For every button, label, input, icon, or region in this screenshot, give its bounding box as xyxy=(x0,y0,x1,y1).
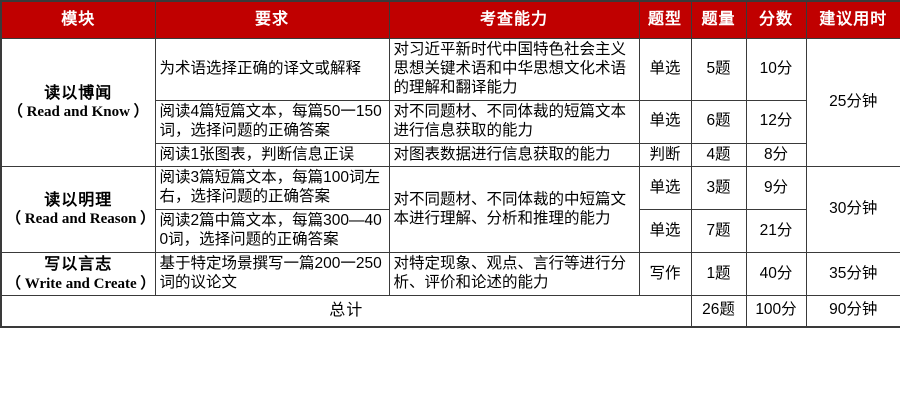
column-header-requirement: 要求 xyxy=(155,1,389,39)
suggested-time-cell-3: 35分钟 xyxy=(806,253,900,296)
ability-cell: 对习近平新时代中国特色社会主义思想关键术语和中华思想文化术语的理解和翻译能力 xyxy=(389,39,639,101)
question-count-cell: 6题 xyxy=(691,100,746,143)
total-row: 总计 26题 100分 90分钟 xyxy=(1,295,900,327)
question-type-cell: 单选 xyxy=(639,167,691,210)
question-type-cell: 单选 xyxy=(639,210,691,253)
ability-cell: 对图表数据进行信息获取的能力 xyxy=(389,143,639,167)
score-cell: 8分 xyxy=(746,143,806,167)
score-cell: 9分 xyxy=(746,167,806,210)
question-type-cell: 判断 xyxy=(639,143,691,167)
module-name-en: （ Read and Reason ） xyxy=(6,210,151,228)
total-question-count: 26题 xyxy=(691,295,746,327)
ability-cell: 对不同题材、不同体裁的短篇文本进行信息获取的能力 xyxy=(389,100,639,143)
question-count-cell: 5题 xyxy=(691,39,746,101)
question-count-cell: 7题 xyxy=(691,210,746,253)
module-name-cn: 写以言志 xyxy=(6,255,151,275)
ability-cell: 对特定现象、观点、言行等进行分析、评价和论述的能力 xyxy=(389,253,639,296)
question-count-cell: 1题 xyxy=(691,253,746,296)
suggested-time-cell-2: 30分钟 xyxy=(806,167,900,253)
total-score: 100分 xyxy=(746,295,806,327)
total-time: 90分钟 xyxy=(806,295,900,327)
question-type-cell: 单选 xyxy=(639,39,691,101)
module-name-cell-2: 读以明理 （ Read and Reason ） xyxy=(1,167,155,253)
score-cell: 12分 xyxy=(746,100,806,143)
column-header-question-count: 题量 xyxy=(691,1,746,39)
module-name-cn: 读以博闻 xyxy=(6,84,151,104)
module-name-cn: 读以明理 xyxy=(6,191,151,211)
column-header-score: 分数 xyxy=(746,1,806,39)
total-label: 总计 xyxy=(1,295,691,327)
module-name-cell-1: 读以博闻 （ Read and Know ） xyxy=(1,39,155,167)
requirement-cell: 阅读4篇短篇文本，每篇50一150词，选择问题的正确答案 xyxy=(155,100,389,143)
column-header-ability: 考查能力 xyxy=(389,1,639,39)
module-name-en: （ Write and Create ） xyxy=(6,275,151,293)
question-type-cell: 单选 xyxy=(639,100,691,143)
table-row: 读以明理 （ Read and Reason ） 阅读3篇短篇文本，每篇100词… xyxy=(1,167,900,210)
requirement-cell: 基于特定场景撰写一篇200一250词的议论文 xyxy=(155,253,389,296)
score-cell: 10分 xyxy=(746,39,806,101)
suggested-time-cell-1: 25分钟 xyxy=(806,39,900,167)
module-name-cell-3: 写以言志 （ Write and Create ） xyxy=(1,253,155,296)
question-type-cell: 写作 xyxy=(639,253,691,296)
column-header-module: 模块 xyxy=(1,1,155,39)
score-cell: 21分 xyxy=(746,210,806,253)
requirement-cell: 阅读1张图表，判断信息正误 xyxy=(155,143,389,167)
requirement-cell: 为术语选择正确的译文或解释 xyxy=(155,39,389,101)
score-cell: 40分 xyxy=(746,253,806,296)
question-count-cell: 4题 xyxy=(691,143,746,167)
module-name-en: （ Read and Know ） xyxy=(6,103,151,121)
exam-structure-table: 模块 要求 考查能力 题型 题量 分数 建议用时 读以博闻 （ Read and… xyxy=(0,0,900,328)
table-header-row: 模块 要求 考查能力 题型 题量 分数 建议用时 xyxy=(1,1,900,39)
requirement-cell: 阅读2篇中篇文本，每篇300—400词，选择问题的正确答案 xyxy=(155,210,389,253)
ability-cell: 对不同题材、不同体裁的中短篇文本进行理解、分析和推理的能力 xyxy=(389,167,639,253)
table-row: 读以博闻 （ Read and Know ） 为术语选择正确的译文或解释 对习近… xyxy=(1,39,900,101)
requirement-cell: 阅读3篇短篇文本，每篇100词左右，选择问题的正确答案 xyxy=(155,167,389,210)
column-header-suggested-time: 建议用时 xyxy=(806,1,900,39)
column-header-question-type: 题型 xyxy=(639,1,691,39)
table-row: 写以言志 （ Write and Create ） 基于特定场景撰写一篇200一… xyxy=(1,253,900,296)
question-count-cell: 3题 xyxy=(691,167,746,210)
